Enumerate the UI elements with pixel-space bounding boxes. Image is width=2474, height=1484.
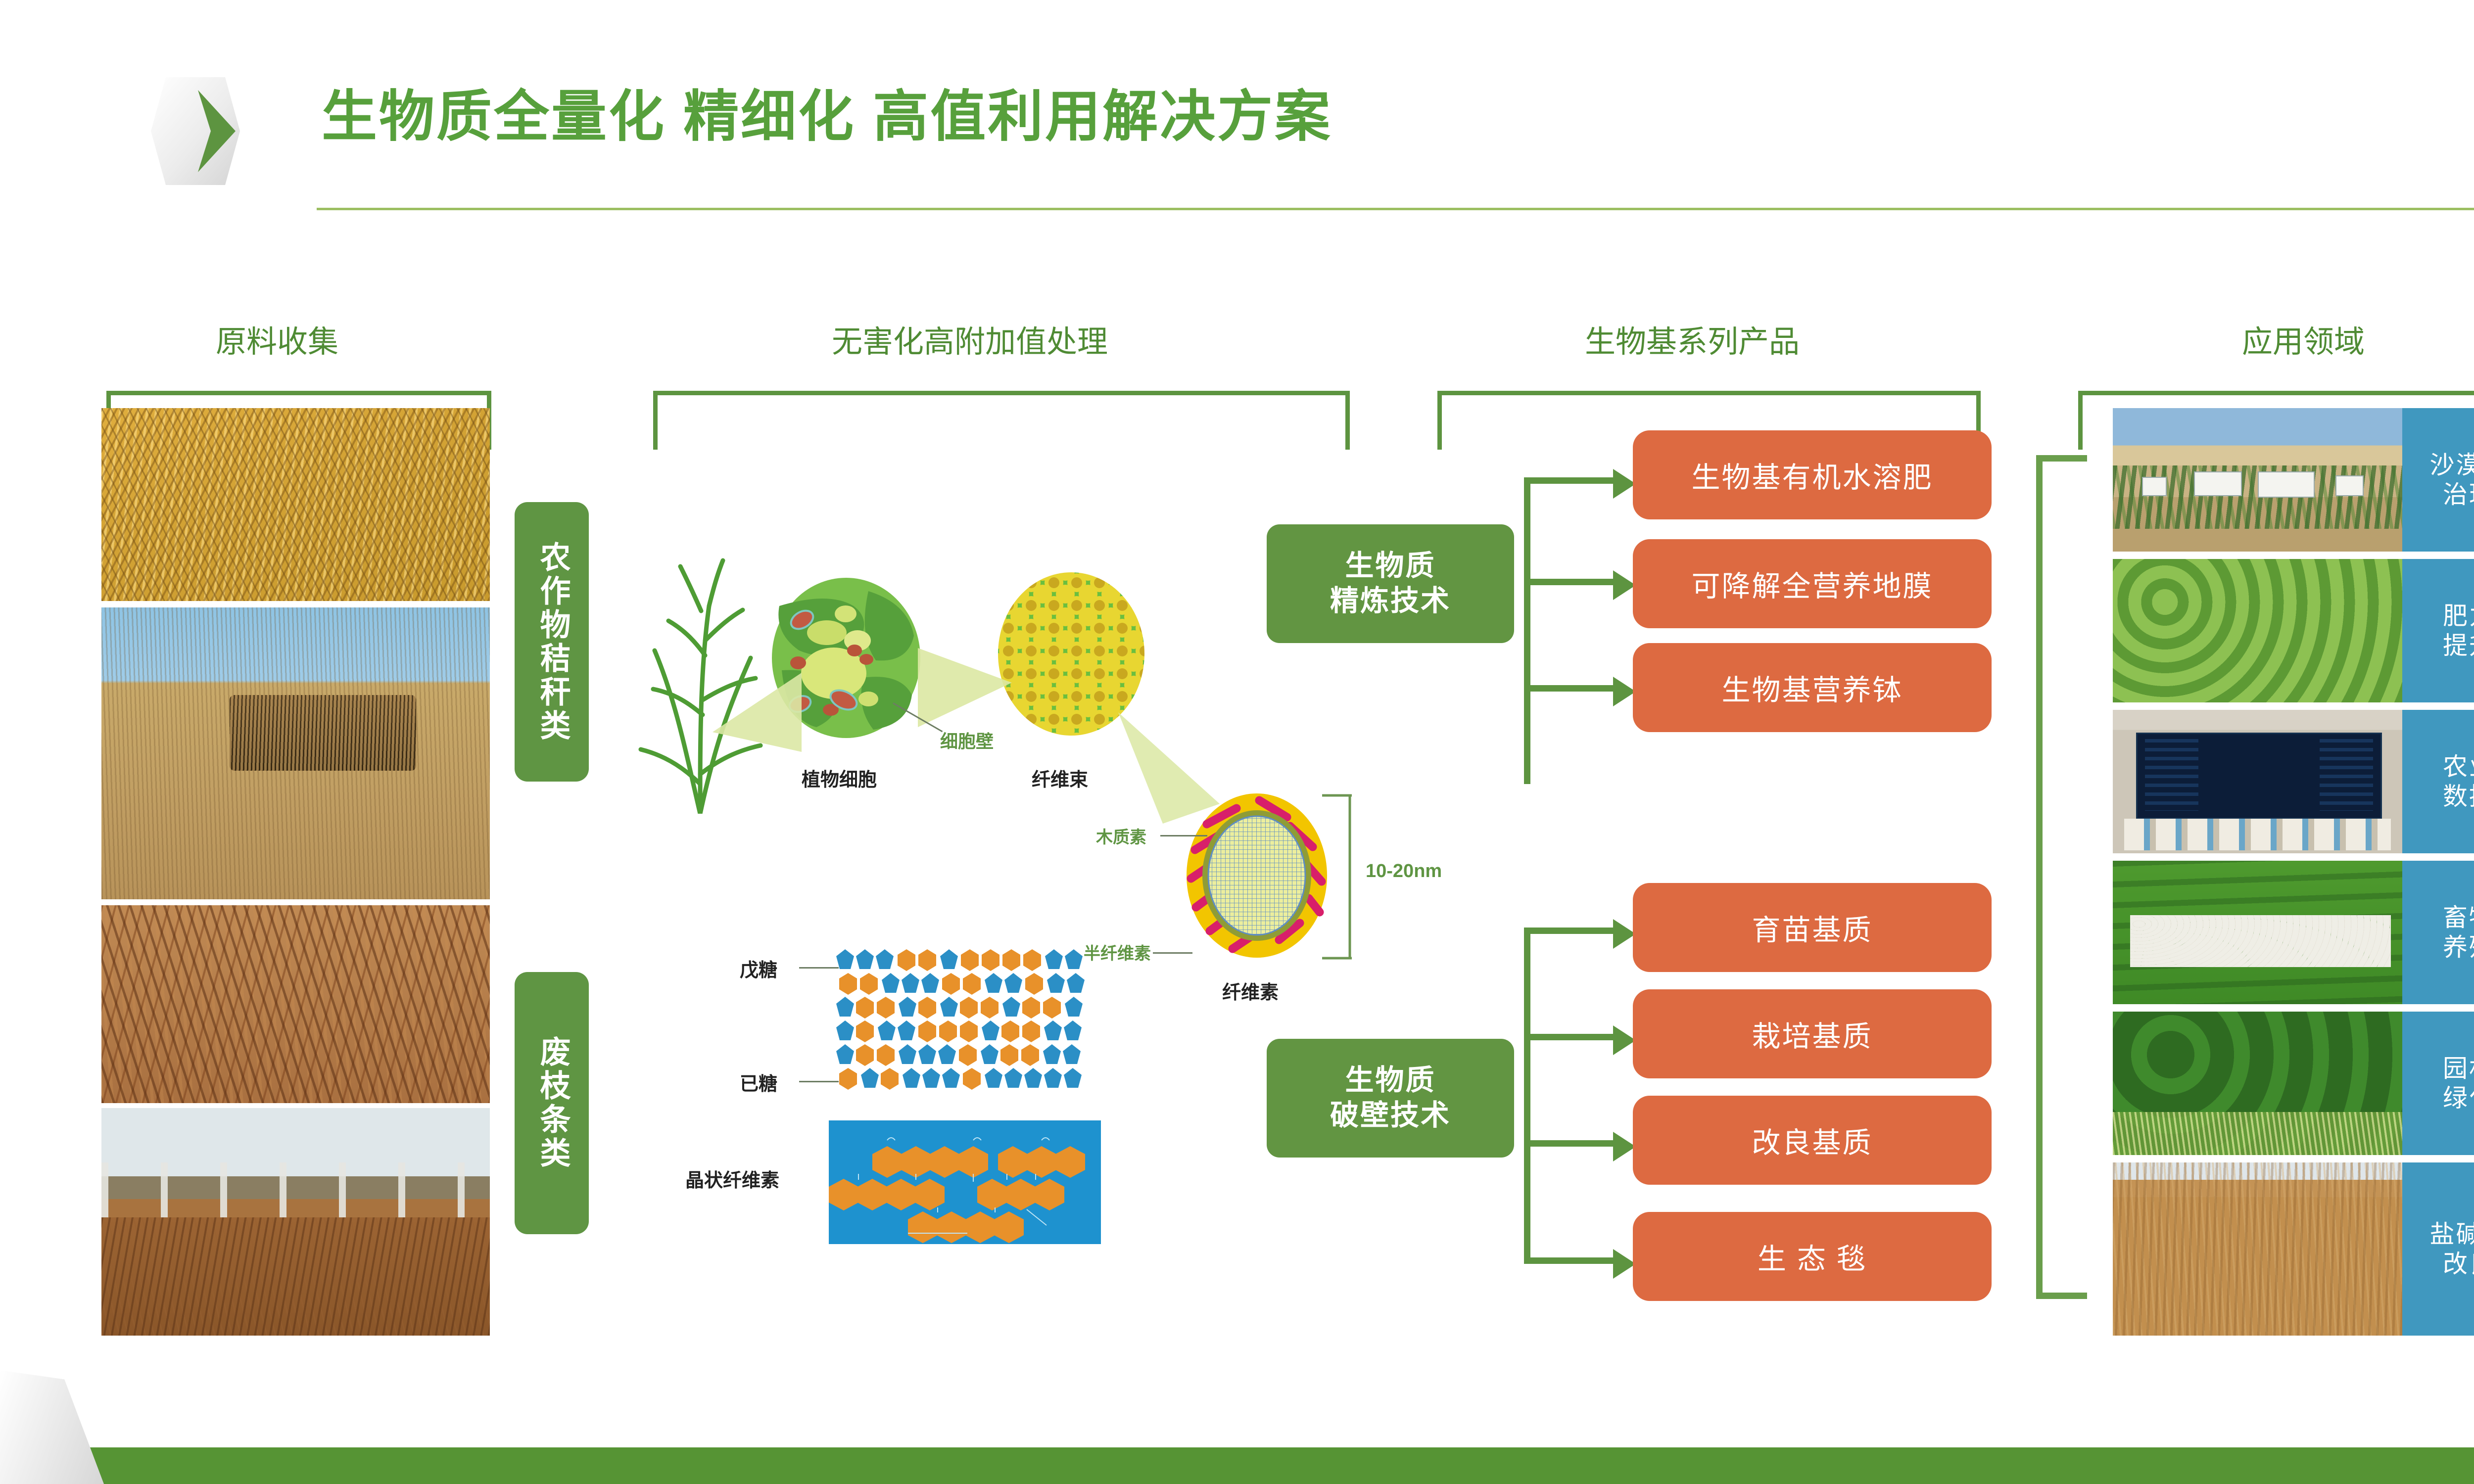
application-desert-line2: 治理 xyxy=(2443,480,2474,510)
pruned-branches-photo xyxy=(101,905,490,1103)
magnify-cone-1 xyxy=(713,658,802,762)
section-header-processing: 无害化高附加值处理 xyxy=(708,317,1232,361)
section-bracket-processing xyxy=(653,391,1350,450)
fiber-bundle-label: 纤维束 xyxy=(1032,764,1088,791)
application-tag-landscape-greening[interactable]: 园林 绿化 xyxy=(2402,1012,2474,1155)
tech-pill-refining-line1: 生物质 xyxy=(1345,549,1435,584)
dimension-bracket-10-20nm xyxy=(1322,791,1357,962)
cabbage-field-photo xyxy=(2113,559,2402,702)
tech-pill-biomass-refining[interactable]: 生物质 精炼技术 xyxy=(1267,524,1514,643)
tech-pill-breaking-line2: 破壁技术 xyxy=(1330,1098,1451,1133)
tech-pill-refining-line2: 精炼技术 xyxy=(1330,584,1451,619)
product-pill-seedling-substrate[interactable]: 育苗基质 xyxy=(1633,883,1992,972)
product-pill-cultivation-substrate[interactable]: 栽培基质 xyxy=(1633,989,1992,1078)
desert-restoration-photo xyxy=(2113,408,2402,552)
product-pill-degradable-nutrient-mulch-film[interactable]: 可降解全营养地膜 xyxy=(1633,539,1992,628)
application-desert-line1: 沙漠化 xyxy=(2430,450,2474,480)
page-title: 生物质全量化 精细化 高值利用解决方案 xyxy=(322,89,1332,144)
lignin-label: 木质素 xyxy=(1096,824,1146,848)
raw-category-waste-branches: 废枝条类 xyxy=(515,972,589,1234)
product-pill-ecological-blanket[interactable]: 生 态 毯 xyxy=(1633,1212,1992,1301)
product-pill-bio-water-soluble-fertilizer[interactable]: 生物基有机水溶肥 xyxy=(1633,430,1992,519)
sugar-chain-diagram xyxy=(836,947,1143,1101)
application-greening-line2: 绿化 xyxy=(2443,1083,2474,1113)
title-underline xyxy=(317,208,2474,210)
application-fertility-line1: 肥力 xyxy=(2443,601,2474,631)
straw-bale-field-photo xyxy=(101,607,490,899)
hexose-label: 已糖 xyxy=(740,1068,777,1096)
vineyard-prunings-photo xyxy=(101,1108,490,1336)
saline-alkali-land-photo xyxy=(2113,1162,2402,1336)
pentose-leader-line xyxy=(799,967,839,969)
application-tag-saline-alkali-improvement[interactable]: 盐碱地 改良 xyxy=(2402,1162,2474,1336)
application-data-line2: 数据 xyxy=(2443,782,2474,811)
tech-pill-cell-wall-breaking[interactable]: 生物质 破壁技术 xyxy=(1267,1039,1514,1158)
dimension-label: 10-20nm xyxy=(1366,861,1442,882)
connector-arm-refining-1 xyxy=(1524,477,1616,484)
connector-trunk-refining xyxy=(1524,477,1530,784)
section-header-applications: 应用领域 xyxy=(2133,317,2474,361)
application-data-line1: 农业 xyxy=(2443,752,2474,782)
application-greening-line1: 园林 xyxy=(2443,1054,2474,1083)
connector-arm-refining-2 xyxy=(1524,579,1616,585)
application-saline-line1: 盐碱地 xyxy=(2430,1219,2474,1249)
connector-arm-breaking-1 xyxy=(1524,927,1616,934)
product-pill-bio-nutrient-pot[interactable]: 生物基营养钵 xyxy=(1633,643,1992,732)
application-tag-desertification-control[interactable]: 沙漠化 治理 xyxy=(2402,408,2474,552)
lignin-leader-line xyxy=(1160,835,1207,836)
connector-arm-breaking-3 xyxy=(1524,1140,1616,1147)
pentose-label: 戊糖 xyxy=(740,955,777,982)
connector-bracket-to-applications xyxy=(2036,455,2087,1299)
dried-corn-stalks-photo xyxy=(101,408,490,601)
raw-category-crop-straw: 农作物秸秆类 xyxy=(515,502,589,782)
footer-bar xyxy=(0,1447,2474,1484)
hemicellulose-leader-line xyxy=(1153,952,1192,954)
cellulose-cross-section-diagram xyxy=(1185,791,1329,960)
section-header-products: 生物基系列产品 xyxy=(1460,317,1925,361)
magnify-cone-2 xyxy=(918,638,1012,737)
section-header-raw-material: 原料收集 xyxy=(124,317,430,361)
application-livestock-line2: 养殖 xyxy=(2443,932,2474,962)
footer-corner-wedge xyxy=(0,1370,104,1484)
connector-arm-refining-3 xyxy=(1524,685,1616,692)
application-saline-line2: 改良 xyxy=(2443,1249,2474,1279)
hexagon-chevron-logo xyxy=(139,74,262,188)
application-tag-livestock-breeding[interactable]: 畜牧 养殖 xyxy=(2402,861,2474,1004)
connector-trunk-breaking xyxy=(1524,927,1530,1264)
application-tag-fertility-improvement[interactable]: 肥力 提升 xyxy=(2402,559,2474,702)
connector-arm-breaking-4 xyxy=(1524,1257,1616,1264)
tech-pill-breaking-line1: 生物质 xyxy=(1345,1063,1435,1098)
park-greening-photo xyxy=(2113,1012,2402,1155)
plant-cell-label: 植物细胞 xyxy=(802,764,877,791)
cell-wall-label: 细胞壁 xyxy=(940,727,994,753)
product-pill-improvement-substrate[interactable]: 改良基质 xyxy=(1633,1096,1992,1185)
application-tag-agriculture-data[interactable]: 农业 数据 xyxy=(2402,710,2474,853)
application-fertility-line2: 提升 xyxy=(2443,631,2474,660)
crystalline-cellulose-label: 晶状纤维素 xyxy=(685,1165,779,1192)
cellulose-label: 纤维素 xyxy=(1222,977,1279,1004)
hexose-leader-line xyxy=(799,1081,839,1082)
agri-data-center-photo xyxy=(2113,710,2402,853)
sheep-grazing-photo xyxy=(2113,861,2402,1004)
crystalline-cellulose-diagram xyxy=(829,1120,1101,1244)
connector-arm-breaking-2 xyxy=(1524,1034,1616,1040)
application-livestock-line1: 畜牧 xyxy=(2443,903,2474,932)
